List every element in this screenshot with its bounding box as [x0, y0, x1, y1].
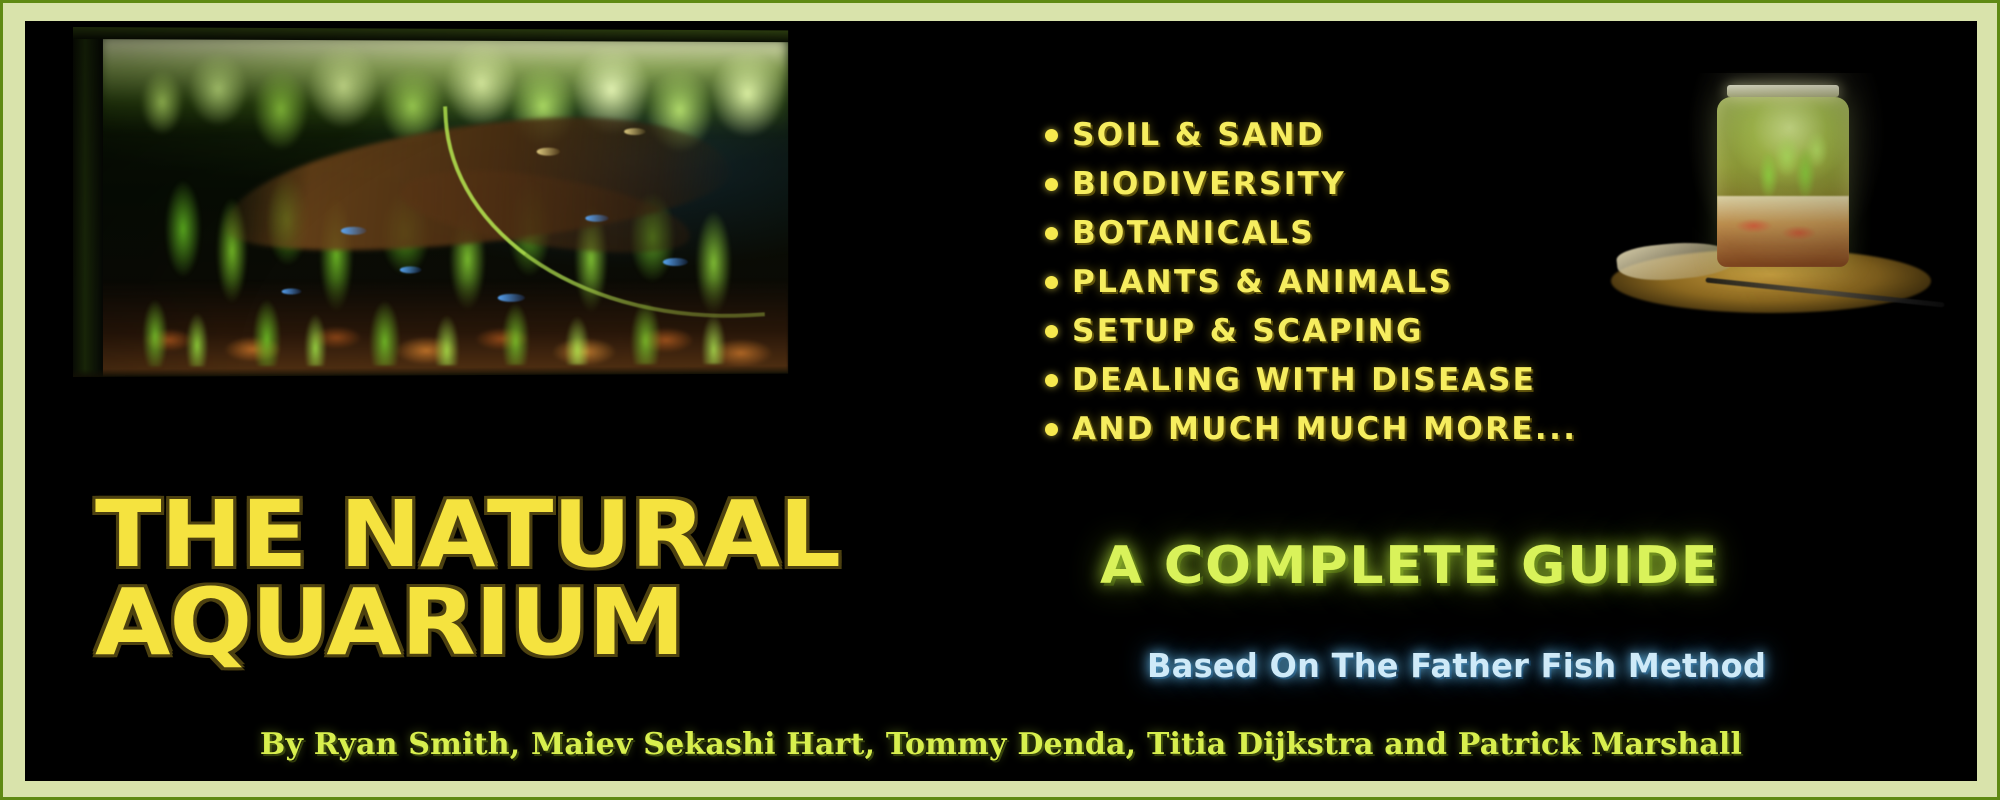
- feature-label: BIODIVERSITY: [1072, 166, 1346, 202]
- fish-icon: [624, 128, 645, 135]
- feature-label: SETUP & SCAPING: [1072, 313, 1424, 349]
- fish-icon: [498, 294, 525, 302]
- cover-frame: SOIL & SAND BIODIVERSITY BOTANICALS PLAN…: [0, 0, 2000, 800]
- feature-label: PLANTS & ANIMALS: [1072, 264, 1453, 300]
- jar-photo: [1621, 81, 1951, 321]
- bullet-dot-icon: [1045, 423, 1058, 436]
- feature-label: DEALING WITH DISEASE: [1072, 362, 1536, 398]
- fish-icon: [341, 227, 367, 235]
- bullet-dot-icon: [1045, 178, 1058, 191]
- list-item: AND MUCH MUCH MORE...: [1045, 411, 1577, 447]
- page-title: THE NATURAL AQUARIUM: [95, 491, 840, 668]
- bullet-dot-icon: [1045, 276, 1058, 289]
- tank-glass-edge: [73, 27, 103, 377]
- list-item: BOTANICALS: [1045, 215, 1577, 251]
- fish-icon: [282, 288, 302, 294]
- cover-canvas: SOIL & SAND BIODIVERSITY BOTANICALS PLAN…: [25, 21, 1977, 781]
- subtitle: Based On The Father Fish Method: [1147, 646, 1766, 685]
- list-item: DEALING WITH DISEASE: [1045, 362, 1577, 398]
- tank-foreground-plants: [99, 217, 788, 367]
- title-line-1: THE NATURAL: [95, 491, 840, 579]
- cover-mat: SOIL & SAND BIODIVERSITY BOTANICALS PLAN…: [3, 3, 1997, 797]
- jar-substrate: [1717, 196, 1849, 267]
- title-line-2: AQUARIUM: [95, 579, 840, 667]
- feature-label: SOIL & SAND: [1072, 117, 1325, 153]
- bullet-dot-icon: [1045, 227, 1058, 240]
- aquarium-photo: [73, 27, 788, 377]
- feature-list: SOIL & SAND BIODIVERSITY BOTANICALS PLAN…: [1045, 117, 1577, 460]
- bullet-dot-icon: [1045, 129, 1058, 142]
- bullet-dot-icon: [1045, 374, 1058, 387]
- headline: A COMPLETE GUIDE: [1100, 536, 1719, 596]
- glass-jar: [1717, 97, 1849, 267]
- list-item: BIODIVERSITY: [1045, 166, 1577, 202]
- fish-icon: [585, 215, 608, 222]
- feature-label: AND MUCH MUCH MORE...: [1072, 411, 1577, 447]
- bullet-dot-icon: [1045, 325, 1058, 338]
- feature-label: BOTANICALS: [1072, 215, 1315, 251]
- fish-icon: [663, 258, 688, 266]
- author-line: By Ryan Smith, Maiev Sekashi Hart, Tommy…: [25, 727, 1977, 762]
- list-item: SOIL & SAND: [1045, 117, 1577, 153]
- list-item: SETUP & SCAPING: [1045, 313, 1577, 349]
- aquarium-tank: [73, 27, 788, 377]
- list-item: PLANTS & ANIMALS: [1045, 264, 1577, 300]
- fish-icon: [400, 266, 422, 273]
- fish-icon: [537, 148, 560, 156]
- jar-lid-light: [1727, 85, 1839, 97]
